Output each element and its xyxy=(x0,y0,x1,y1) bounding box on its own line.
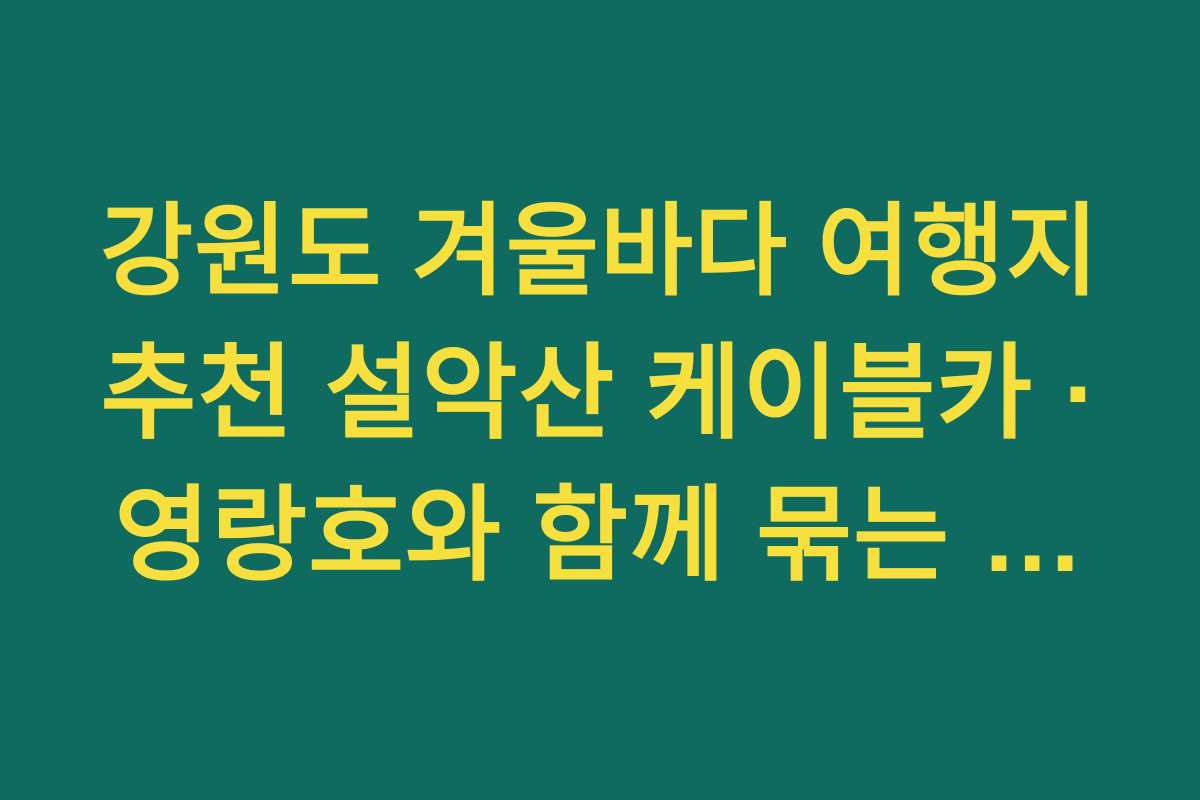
thumbnail-card: 강원도 겨울바다 여행지 추천 설악산 케이블카 · 영랑호와 함께 묶는 … xyxy=(0,0,1200,800)
headline-block: 강원도 겨울바다 여행지 추천 설악산 케이블카 · 영랑호와 함께 묶는 … xyxy=(70,182,1130,606)
headline-line-1: 강원도 겨울바다 여행지 xyxy=(100,182,1100,322)
headline-line-3: 영랑호와 함께 묶는 … xyxy=(114,466,1085,606)
headline-line-2: 추천 설악산 케이블카 · xyxy=(101,324,1100,464)
